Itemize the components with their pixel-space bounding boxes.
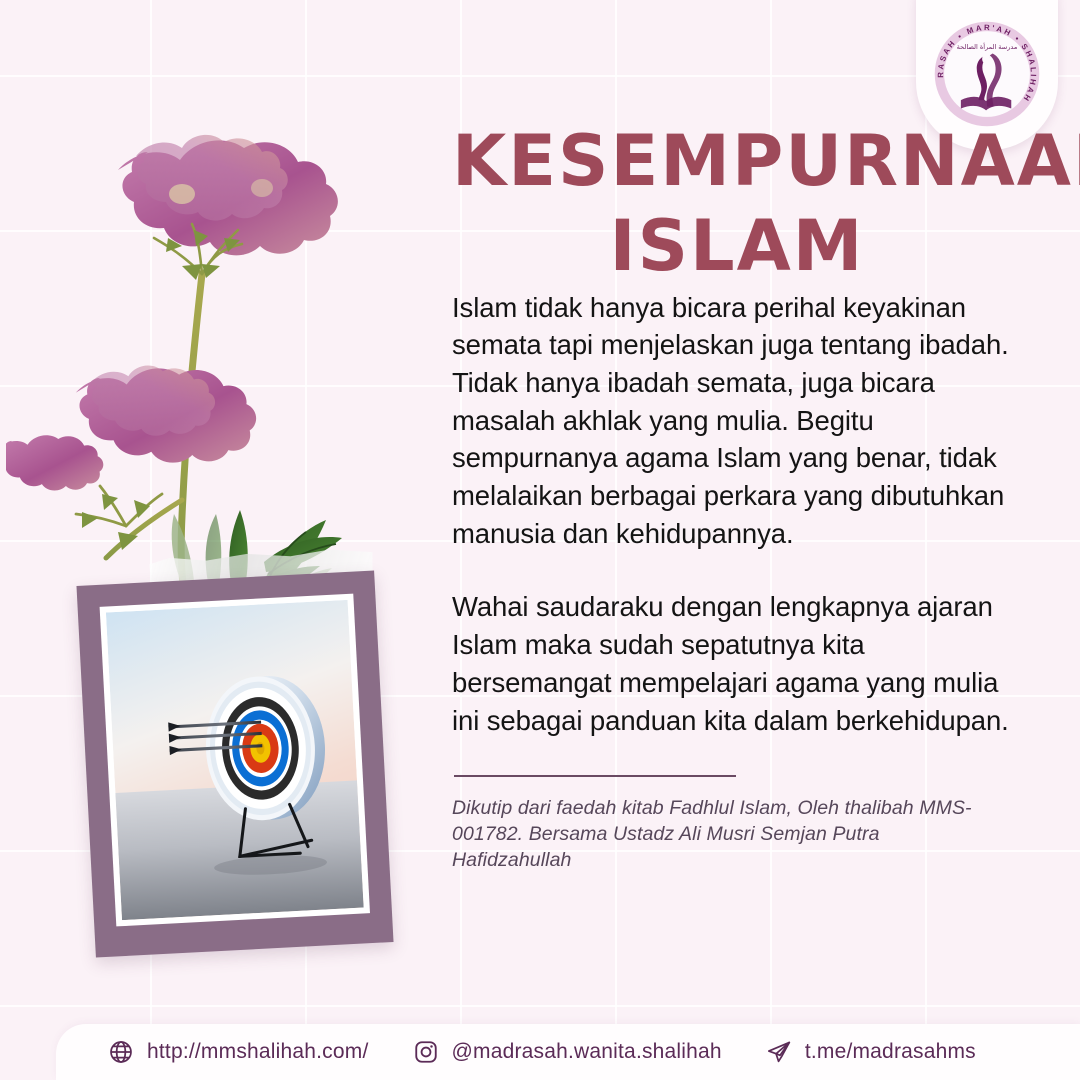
citation-divider [454, 775, 736, 777]
archery-target-photo [106, 600, 364, 920]
globe-icon [108, 1039, 134, 1065]
body-paragraph-2: Wahai saudaraku dengan lengkapnya ajaran… [452, 588, 1022, 739]
svg-text:مدرسة المرأة الصالحة: مدرسة المرأة الصالحة [957, 42, 1018, 51]
footer-label-instagram: @madrasah.wanita.shalihah [452, 1040, 722, 1064]
footer-item-telegram[interactable]: t.me/madrasahms [766, 1039, 976, 1065]
footer-label-telegram: t.me/madrasahms [805, 1040, 976, 1064]
madrasah-marah-shalihah-logo: MADRASAH • MAR'AH • SHALIHAH مدرسة المرأ… [931, 18, 1043, 130]
footer-item-instagram[interactable]: @madrasah.wanita.shalihah [413, 1039, 722, 1065]
photo-mat [100, 594, 370, 927]
footer-label-website: http://mmshalihah.com/ [147, 1040, 369, 1064]
footer-item-website[interactable]: http://mmshalihah.com/ [108, 1039, 369, 1065]
title-line-2: ISLAM [452, 211, 1022, 282]
title-line-1: KESEMPURNAAN [452, 120, 1080, 202]
citation-text: Dikutip dari faedah kitab Fadhlul Islam,… [452, 795, 988, 873]
poster-canvas: MADRASAH • MAR'AH • SHALIHAH مدرسة المرأ… [0, 0, 1080, 1080]
page-title: KESEMPURNAAN ISLAM [452, 126, 1022, 283]
body-paragraph-1: Islam tidak hanya bicara perihal keyakin… [452, 289, 1022, 553]
photo-frame [76, 570, 393, 957]
telegram-icon [766, 1039, 792, 1065]
footer-bar: http://mmshalihah.com/ @madrasah.wanita.… [56, 1024, 1080, 1080]
instagram-icon [413, 1039, 439, 1065]
content-column: KESEMPURNAAN ISLAM Islam tidak hanya bic… [452, 126, 1022, 874]
